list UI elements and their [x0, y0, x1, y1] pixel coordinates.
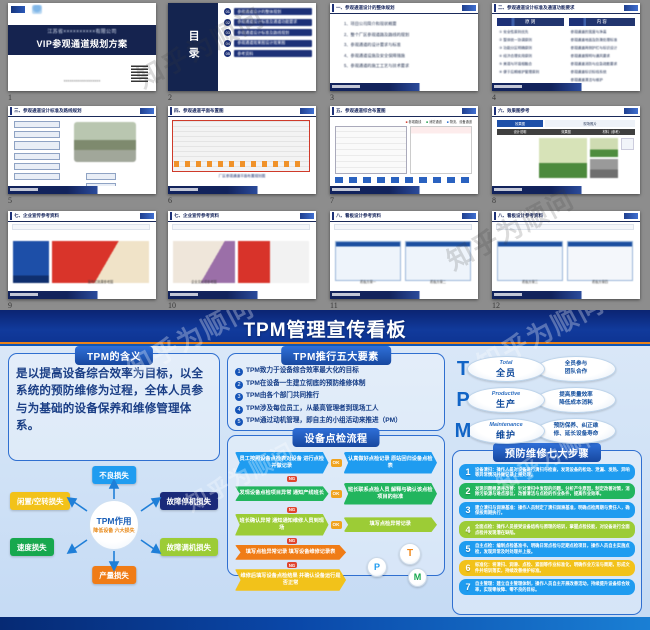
toc-item-number: 01 — [224, 8, 231, 15]
slide-11: 八、看板设计参考资料 看板方案一 看板方案二 — [330, 211, 478, 299]
panel-caption: TPM的含义 — [75, 346, 153, 365]
toc-items: 01参观通道设计的整体规划 02参观通道设计标准及通道功能要求 03参观通道设计… — [218, 3, 316, 91]
cover-title: VIP参观通道规划方案 — [8, 37, 156, 50]
slide-thumbnail-12[interactable]: 八、看板设计参考资料 看板方案三 看板方案四 12 — [492, 211, 640, 299]
loss-box-bottom: 产量损失 — [92, 566, 136, 584]
flow-box-left: 维修后填写设备点检结果 并确认设备运行是否正常 — [235, 569, 346, 591]
slide-thumbnail-9[interactable]: 七、企业宣传参考资料 宣传栏效果参考图 9 — [8, 211, 156, 299]
step-item: 2发现问题根源并改善：针对清扫中发现的问题，分析产生原因，制定改善对策，消除污染… — [459, 483, 635, 499]
item-number: 4 — [235, 406, 243, 414]
slide-4-right-column: 内 容 参观通道的宽度与净高 参观通道地面及防滑处理标准 参观通道两侧护栏与标识… — [569, 18, 636, 83]
letter-desc: 提高质量效率 降低成本消耗 — [559, 392, 593, 407]
corner-logo-icon — [624, 5, 638, 11]
slide-4: 二、参观通道设计标准及通道功能要求 原 则 ① 安全性原则优先 ② 整体统一协调… — [492, 3, 640, 91]
item-text: TPM通过动机管理，即自主的小组活动来推进（PM） — [246, 417, 402, 425]
item-text: TPM在设备一生建立彻底的预防维修体制 — [246, 380, 365, 388]
cover-footnote: ×××××××××××××××××× — [8, 79, 156, 83]
panel-caption: 预防维修七大步骤 — [493, 443, 601, 462]
tpm-poster: TPM管理宣传看板 TPM的含义 是以提高设备综合效率为目标，以全系统的预防维修… — [0, 310, 650, 630]
inspection-flow-panel: 设备点检流程 员工按照设备点检表对设备 进行点检并做记录 OK 认真做好点检记录… — [227, 435, 445, 576]
loss-box-left-bottom: 速度损失 — [10, 538, 54, 556]
toc-item-number: 02 — [224, 19, 231, 26]
step-text: 全面点检：操作人员接受设备结构与原理的培训，掌握点检技能，对设备进行全面点检并发… — [475, 524, 630, 535]
col-header: 设计说明 — [497, 129, 543, 135]
ok-badge: OK — [331, 521, 342, 529]
toc-item-number: 04 — [224, 40, 231, 47]
slide-number: 4 — [492, 93, 496, 102]
slide-11-content: 看板方案一 看板方案二 — [330, 222, 478, 291]
poster-title: TPM管理宣传看板 — [243, 315, 406, 342]
step-item: 5自主点检：编制点检基准书，明确日常点检与定期点检项目，操作人员自主实施点检，发… — [459, 541, 635, 557]
step-text: 标准化：将清扫、润滑、点检、紧固等作业标准化，明确作业方法与周期，形成文件并培训… — [475, 562, 630, 573]
cover-title-band: 江苏省××××××××××有限公司 VIP参观通道规划方案 — [8, 25, 156, 55]
loss-box-right-bottom: 故障调机损失 — [160, 538, 218, 556]
list-item: ③ 功能分区明确原则 — [499, 46, 564, 51]
slide-8: 六、效果图参考 效果图 现场照片 设计说明 效果图 材料（参考） — [492, 106, 640, 194]
slide-title: 二、参观通道设计标准及通道功能要求 — [498, 5, 575, 11]
five-elements-panel: TPM推行五大要素 1TPM致力于设备综合效率最大化的目标 2TPM在设备一生建… — [227, 353, 445, 431]
slide-thumbnail-2[interactable]: 目录 01参观通道设计的整体规划 02参观通道设计标准及通道功能要求 03参观通… — [168, 3, 316, 91]
step-number: 7 — [464, 582, 472, 592]
list-item: ⑤ 美观与环境相融合 — [499, 62, 564, 67]
poster-header: TPM管理宣传看板 — [0, 310, 650, 346]
cover-company: 江苏省××××××××××有限公司 — [8, 28, 156, 35]
flow-box-right: 认真做好点检记录 原站回归设备点检表 — [344, 452, 438, 474]
five-element-item: 2TPM在设备一生建立彻底的预防维修体制 — [235, 380, 437, 389]
slide-thumbnail-4[interactable]: 二、参观通道设计标准及通道功能要求 原 则 ① 安全性原则优先 ② 整体统一协调… — [492, 3, 640, 91]
slide-thumbnail-5[interactable]: 三、参观通道设计标准及路线规划 5 — [8, 106, 156, 194]
ng-badge: NG — [287, 538, 297, 545]
flow-box-left: 填写点检异常记录 填写设备维修记录表 — [235, 545, 346, 560]
slide-3-list: 1、项目公司简介和现状概要 2、整个厂区参观道路及路线的规划 3、参观通道的设计… — [330, 14, 478, 69]
slide-number: 9 — [8, 301, 12, 310]
slide-number: 7 — [330, 196, 334, 205]
slide-number: 2 — [168, 93, 172, 102]
gear-t-icon: T — [399, 543, 421, 565]
letter-desc: 全员参与 团队合作 — [565, 361, 587, 376]
step-item: 6标准化：将清扫、润滑、点检、紧固等作业标准化，明确作业方法与周期，形成文件并培… — [459, 560, 635, 576]
slide-number: 6 — [168, 196, 172, 205]
slide-number: 1 — [8, 93, 12, 102]
slide-thumbnail-6[interactable]: 四、参观通道平面布置图 厂区参观通道平面布置规划图 6 — [168, 106, 316, 194]
toc-side-label: 目录 — [185, 30, 201, 64]
slide-thumbnail-1[interactable]: 江苏省××××××××××有限公司 VIP参观通道规划方案 ××××××××××… — [8, 3, 156, 91]
slide-thumbnail-10[interactable]: 七、企业宣传参考资料 企业文化墙参考图 10 — [168, 211, 316, 299]
slide-6-layout-drawing: 厂区参观通道平面布置规划图 — [168, 117, 316, 186]
list-item: 4、参观通道设施及安全保障措施 — [344, 53, 472, 59]
five-element-item: 4TPM涉及每位员工，从最高管理者到现场工人 — [235, 405, 437, 414]
corner-logo-icon — [462, 5, 476, 11]
slide-title: 五、参观通道综合布置图 — [336, 108, 386, 114]
slide-title: 八、看板设计参考资料 — [336, 213, 381, 219]
list-item: ① 安全性原则优先 — [499, 30, 564, 35]
flow-row: 填写点检异常记录 填写设备维修记录表 — [235, 545, 346, 560]
loss-box-top: 不良损失 — [92, 466, 136, 484]
drawing-caption: 厂区参观通道平面布置规划图 — [168, 174, 316, 179]
slide-10: 七、企业宣传参考资料 企业文化墙参考图 — [168, 211, 316, 299]
slide-number: 8 — [492, 196, 496, 205]
corner-logo-icon — [300, 213, 314, 219]
tpm-letter: P — [452, 389, 474, 412]
tpm-letter-desc: 全员参与 团队合作 — [536, 356, 616, 382]
step-item: 3建立清扫与润滑基准：操作人员制定了清扫润滑基准，明确点检周期与责任人，确保按周… — [459, 502, 635, 518]
tpm-letter-word: Maintenance 维护 — [467, 418, 545, 444]
slide-title: 六、效果图参考 — [498, 108, 530, 114]
slide-title: 四、参观通道平面布置图 — [174, 108, 224, 114]
corner-logo-icon — [624, 108, 638, 114]
loss-box-left-top: 闲置/空转损失 — [10, 492, 70, 510]
panel-caption: 设备点检流程 — [293, 428, 380, 447]
slide-thumbnail-11[interactable]: 八、看板设计参考资料 看板方案一 看板方案二 11 — [330, 211, 478, 299]
slide-7-cad: ■ 参观路线 ■ 消防通道 ■ 物流、设备通道 — [330, 117, 478, 186]
slide-number: 11 — [330, 301, 338, 310]
toc-item: 04参观通道效果图设计效果图 — [224, 40, 312, 47]
step-text: 自主点检：编制点检基准书，明确日常点检与定期点检项目，操作人员自主实施点检，发现… — [475, 543, 630, 554]
poster-right-column: T Total 全员 全员参与 团队合作 P Productive 生产 — [452, 353, 642, 615]
image-caption: 看板方案一 — [335, 279, 401, 284]
ng-badge: NG — [287, 476, 297, 483]
column-heading: 原 则 — [497, 18, 564, 26]
slide-8-render: 效果图 现场照片 设计说明 效果图 材料（参考） — [492, 117, 640, 186]
item-text: TPM致力于设备综合效率最大化的目标 — [246, 367, 359, 375]
step-item: 7自主管理：建立自主管理体制，操作人员自主开展改善活动，持续提升设备综合效率，实… — [459, 579, 635, 595]
slide-7: 五、参观通道综合布置图 ■ 参观路线 ■ 消防通道 ■ 物流、设备通道 — [330, 106, 478, 194]
toc-item-label: 参观通道设计的整体规划 — [234, 8, 312, 15]
list-item: 参观通道的宽度与净高 — [571, 30, 636, 35]
cover-top-band — [8, 3, 156, 25]
list-item: 1、项目公司简介和现状概要 — [344, 21, 472, 27]
tpm-letter: T — [452, 358, 474, 381]
toc-item-label: 参观通道设计标准及通道功能要求 — [234, 19, 312, 26]
slide-5: 三、参观通道设计标准及路线规划 — [8, 106, 156, 194]
flow-row: 班长确认异常 通知通知维修人员到现场 OK 填写点检异常记录 — [235, 514, 437, 536]
corner-logo-icon — [624, 213, 638, 219]
slide-thumbnail-3[interactable]: 一、参观通道设计的整体规划 1、项目公司简介和现状概要 2、整个厂区参观道路及路… — [330, 3, 478, 91]
ng-badge: NG — [287, 507, 297, 514]
slide-title: 三、参观通道设计标准及路线规划 — [14, 108, 82, 114]
toc-item: 05参考资料 — [224, 50, 312, 57]
loss-core-circle: TPM作用 降低设备 六大损失 — [89, 500, 139, 550]
five-element-item: 1TPM致力于设备综合效率最大化的目标 — [235, 367, 437, 376]
loss-core-subtitle: 降低设备 六大损失 — [93, 528, 134, 534]
gear-p-icon: P — [367, 557, 387, 577]
letter-cn: 生产 — [496, 397, 516, 410]
letter-desc: 预防保养、纠正维 修、延长设备寿命 — [554, 423, 599, 438]
toc-item-number: 03 — [224, 29, 231, 36]
corner-logo-icon — [300, 108, 314, 114]
item-number: 2 — [235, 381, 243, 389]
item-text: TPM由各个部门共同推行 — [246, 392, 319, 400]
list-item: ④ 经济合理实用原则 — [499, 54, 564, 59]
slide-thumbnail-7[interactable]: 五、参观通道综合布置图 ■ 参观路线 ■ 消防通道 ■ 物流、设备通道 7 — [330, 106, 478, 194]
image-caption: 看板方案二 — [405, 279, 471, 284]
step-number: 4 — [464, 525, 472, 535]
corner-logo-icon — [462, 213, 476, 219]
flow-row: 发现设备点检项目异常 通知产线班长 OK 班长联系点检人员 解释与确认该点检项目… — [235, 483, 437, 505]
list-item: 5、参观通道的施工工艺与技术要求 — [344, 63, 472, 69]
slide-number: 5 — [8, 196, 12, 205]
slide-6: 四、参观通道平面布置图 厂区参观通道平面布置规划图 — [168, 106, 316, 194]
step-item: 4全面点检：操作人员接受设备结构与原理的培训，掌握点检技能，对设备进行全面点检并… — [459, 521, 635, 537]
slide-title: 八、看板设计参考资料 — [498, 213, 543, 219]
flow-box-left: 发现设备点检项目异常 通知产线班长 — [235, 486, 329, 501]
list-item: 参观通道标识标线系统 — [571, 70, 636, 75]
slide-4-left-column: 原 则 ① 安全性原则优先 ② 整体统一协调原则 ③ 功能分区明确原则 ④ 经济… — [497, 18, 564, 83]
tpm-letter-desc: 预防保养、纠正维 修、延长设备寿命 — [536, 418, 616, 444]
slide-title: 七、企业宣传参考资料 — [14, 213, 59, 219]
corner-logo-icon — [462, 108, 476, 114]
panel-caption: TPM推行五大要素 — [281, 346, 391, 365]
flow-box-right: 班长联系点检人员 解释与确认该点检项目的标准 — [344, 483, 438, 505]
item-text: TPM涉及每位员工，从最高管理者到现场工人 — [246, 405, 379, 413]
list-item: 参观通道消防与应急疏散要求 — [571, 62, 636, 67]
poster-footer-bar — [0, 617, 650, 630]
legend-item: ■ 参观路线 — [406, 119, 422, 124]
image-caption: 企业文化墙参考图 — [173, 279, 235, 284]
slide-4-columns: 原 则 ① 安全性原则优先 ② 整体统一协调原则 ③ 功能分区明确原则 ④ 经济… — [492, 14, 640, 83]
step-number: 2 — [464, 486, 472, 496]
toc-item: 02参观通道设计标准及通道功能要求 — [224, 19, 312, 26]
tpm-letter-word: Productive 生产 — [467, 387, 545, 413]
slide-3: 一、参观通道设计的整体规划 1、项目公司简介和现状概要 2、整个厂区参观道路及路… — [330, 3, 478, 91]
step-number: 5 — [464, 544, 472, 554]
toc-item: 03参观通道设计标准及路线规划 — [224, 29, 312, 36]
slide-thumbnail-8[interactable]: 六、效果图参考 效果图 现场照片 设计说明 效果图 材料（参考） — [492, 106, 640, 194]
list-item: ⑥ 便于后期维护管理原则 — [499, 70, 564, 75]
step-number: 1 — [464, 467, 472, 477]
slide-10-content: 企业文化墙参考图 — [168, 222, 316, 291]
toc-side-panel: 目录 — [168, 3, 218, 91]
tpm-letter: M — [452, 420, 474, 443]
slide-number: 12 — [492, 301, 500, 310]
slide-title: 一、参观通道设计的整体规划 — [336, 5, 395, 11]
slide-2-toc: 目录 01参观通道设计的整体规划 02参观通道设计标准及通道功能要求 03参观通… — [168, 3, 316, 91]
legend-item: ■ 消防通道 — [426, 119, 442, 124]
letter-cn: 全员 — [496, 366, 516, 379]
toc-item-label: 参考资料 — [234, 50, 312, 57]
item-number: 5 — [235, 418, 243, 426]
col-header: 效果图 — [543, 129, 589, 135]
tpm-letter-row: T Total 全员 全员参与 团队合作 — [452, 355, 642, 383]
toc-item-label: 参观通道设计标准及路线规划 — [234, 29, 312, 36]
image-caption: 宣传栏效果参考图 — [52, 279, 149, 284]
step-text: 建立清扫与润滑基准：操作人员制定了清扫润滑基准，明确点检周期与责任人，确保按周期… — [475, 505, 630, 516]
slide-number: 3 — [330, 93, 334, 102]
five-elements-list: 1TPM致力于设备综合效率最大化的目标 2TPM在设备一生建立彻底的预防维修体制… — [235, 367, 437, 426]
item-number: 1 — [235, 368, 243, 376]
legend-item: ■ 物流、设备通道 — [447, 119, 472, 124]
poster-middle-column: TPM推行五大要素 1TPM致力于设备综合效率最大化的目标 2TPM在设备一生建… — [227, 353, 445, 615]
company-logo-icon — [11, 6, 25, 13]
slide-number: 10 — [168, 301, 176, 310]
tpm-meaning-panel: TPM的含义 是以提高设备综合效率为目标，以全系统的预防维修为过程，全体人员参与… — [8, 353, 220, 461]
tpm-letter-desc: 提高质量效率 降低成本消耗 — [536, 387, 616, 413]
cover-bottom: ×××××××××××××××××× — [8, 55, 156, 91]
tab-inactive[interactable]: 现场照片 — [545, 120, 635, 127]
corner-logo-icon — [140, 108, 154, 114]
tpm-gears: T P M — [367, 543, 429, 587]
slide-9-content: 宣传栏效果参考图 — [8, 222, 156, 291]
list-item: 参观通道清洁与维护 — [571, 78, 636, 83]
tpm-meaning-text: 是以提高设备综合效率为目标，以全系统的预防维修为过程，全体人员参与为基础的设备保… — [16, 366, 212, 435]
col-header: 材料（参考） — [589, 129, 635, 135]
list-item: 2、整个厂区参观道路及路线的规划 — [344, 32, 472, 38]
list-item: 3、参观通道的设计要求与标准 — [344, 42, 472, 48]
poster-left-column: TPM的含义 是以提高设备综合效率为目标，以全系统的预防维修为过程，全体人员参与… — [8, 353, 220, 615]
toc-item-number: 05 — [224, 50, 231, 57]
step-item: 1设备清扫：操作人员对设备进行清扫与检查，发现设备的松动、泄漏、发热、异响等异常… — [459, 464, 635, 480]
list-item: ② 整体统一协调原则 — [499, 38, 564, 43]
seven-steps-panel: 预防维修七大步骤 1设备清扫：操作人员对设备进行清扫与检查，发现设备的松动、泄漏… — [452, 450, 642, 615]
flow-box-left: 员工按照设备点检表对设备 进行点检并做记录 — [235, 452, 329, 474]
seven-steps-list: 1设备清扫：操作人员对设备进行清扫与检查，发现设备的松动、泄漏、发热、异响等异常… — [459, 464, 635, 595]
toc-item: 01参观通道设计的整体规划 — [224, 8, 312, 15]
five-element-item: 5TPM通过动机管理，即自主的小组活动来推进（PM） — [235, 417, 437, 426]
image-caption: 看板方案四 — [567, 279, 633, 284]
six-losses-diagram: 不良损失 故障停机损失 故障调机损失 产量损失 速度损失 闲置/空转损失 TPM… — [8, 466, 220, 584]
tpm-letter-row: M Maintenance 维护 预防保养、纠正维 修、延长设备寿命 — [452, 417, 642, 445]
flow-box-left: 班长确认异常 通知通知维修人员到现场 — [235, 514, 329, 536]
tab-active[interactable]: 效果图 — [497, 120, 543, 127]
inspection-flow: 员工按照设备点检表对设备 进行点检并做记录 OK 认真做好点检记录 原站回归设备… — [235, 449, 437, 591]
step-text: 发现问题根源并改善：针对清扫中发现的问题，分析产生原因，制定改善对策，消除污染源… — [475, 486, 630, 497]
corner-logo-icon — [140, 213, 154, 219]
slide-thumbnail-grid: 江苏省××××××××××有限公司 VIP参观通道规划方案 ××××××××××… — [0, 0, 650, 310]
loss-core-title: TPM作用 — [97, 515, 132, 527]
letter-cn: 维护 — [496, 428, 516, 441]
slide-12-content: 看板方案三 看板方案四 — [492, 222, 640, 291]
tpm-letter-word: Total 全员 — [467, 356, 545, 382]
decor-icon — [32, 5, 42, 14]
list-item: 参观通道照明与通风要求 — [571, 54, 636, 59]
slide-5-content — [8, 117, 156, 186]
ok-badge: OK — [331, 490, 342, 498]
item-number: 3 — [235, 393, 243, 401]
slide-1-cover: 江苏省××××××××××有限公司 VIP参观通道规划方案 ××××××××××… — [8, 3, 156, 91]
list-item: 参观通道地面及防滑处理标准 — [571, 38, 636, 43]
step-text: 自主管理：建立自主管理体制，操作人员自主开展改善活动，持续提升设备综合效率，实现… — [475, 581, 630, 592]
ok-badge: OK — [331, 459, 342, 467]
flow-row: 员工按照设备点检表对设备 进行点检并做记录 OK 认真做好点检记录 原站回归设备… — [235, 452, 437, 474]
slide-9: 七、企业宣传参考资料 宣传栏效果参考图 — [8, 211, 156, 299]
flow-row: 维修后填写设备点检结果 并确认设备运行是否正常 — [235, 569, 346, 591]
loss-box-right-top: 故障停机损失 — [160, 492, 218, 510]
list-item: 参观通道两侧护栏与标识设计 — [571, 46, 636, 51]
column-heading: 内 容 — [569, 18, 636, 26]
ng-badge: NG — [287, 562, 297, 569]
step-text: 设备清扫：操作人员对设备进行清扫与检查，发现设备的松动、泄漏、发热、异响等异常情… — [475, 467, 630, 478]
gear-m-icon: M — [408, 568, 427, 587]
toc-item-label: 参观通道效果图设计效果图 — [234, 40, 312, 47]
slide-title: 七、企业宣传参考资料 — [174, 213, 219, 219]
slide-12: 八、看板设计参考资料 看板方案三 看板方案四 — [492, 211, 640, 299]
flow-box-right: 填写点检异常记录 — [344, 517, 438, 532]
five-element-item: 3TPM由各个部门共同推行 — [235, 392, 437, 401]
poster-body: TPM的含义 是以提高设备综合效率为目标，以全系统的预防维修为过程，全体人员参与… — [0, 350, 650, 615]
image-caption: 看板方案三 — [497, 279, 563, 284]
step-number: 3 — [464, 505, 472, 515]
step-number: 6 — [464, 563, 472, 573]
tpm-letters: T Total 全员 全员参与 团队合作 P Productive 生产 — [452, 353, 642, 445]
tpm-letter-row: P Productive 生产 提高质量效率 降低成本消耗 — [452, 386, 642, 414]
